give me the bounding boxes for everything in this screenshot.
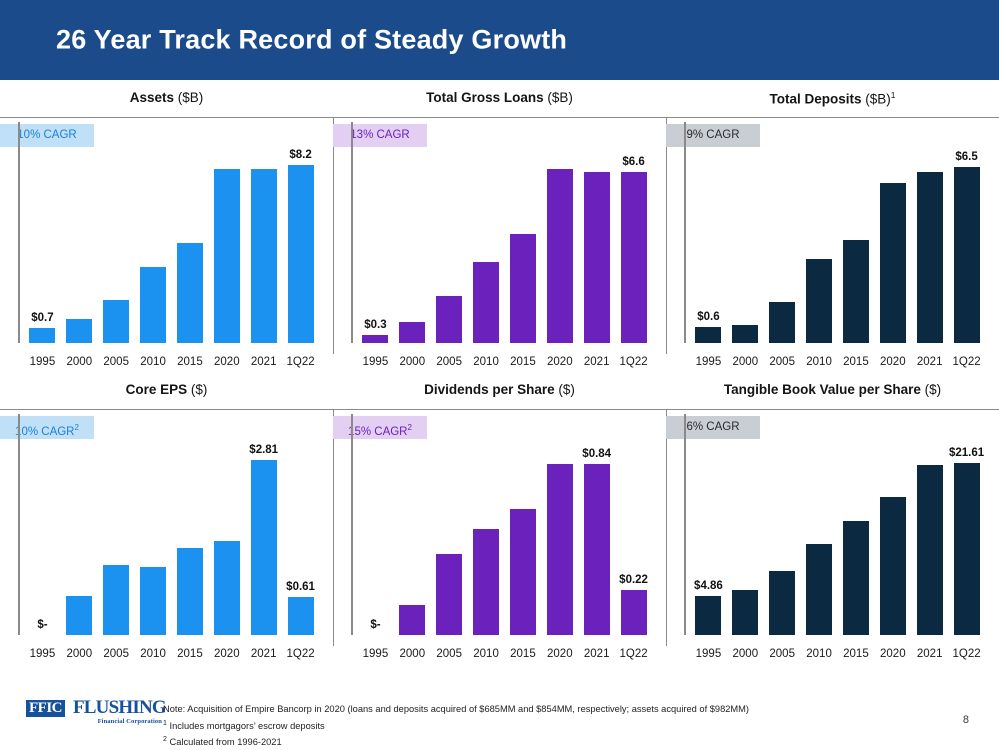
bar-2020 bbox=[214, 541, 240, 635]
x-axis-tick: 1Q22 bbox=[948, 356, 985, 368]
bar-value-label: $21.61 bbox=[948, 447, 985, 459]
x-axis-tick: 1Q22 bbox=[282, 648, 319, 660]
cagr-badge-label: 13% CAGR bbox=[350, 129, 409, 141]
bar-value-label: $8.2 bbox=[282, 149, 319, 161]
x-axis-tick: 2010 bbox=[801, 356, 838, 368]
charts-grid: Assets ($B)10% CAGR$0.719952000200520102… bbox=[0, 86, 999, 670]
x-axis-tick: 2020 bbox=[541, 648, 578, 660]
cagr-badge-dividends-per-share: 15% CAGR2 bbox=[333, 416, 427, 439]
bar-2021 bbox=[251, 169, 277, 343]
bar-slot: 2015 bbox=[505, 152, 542, 374]
bar-2010 bbox=[140, 267, 166, 343]
bar-2015 bbox=[177, 548, 203, 635]
x-axis-tick: 2005 bbox=[764, 648, 801, 660]
chart-title-unit: ($) bbox=[925, 382, 942, 397]
page-title: 26 Year Track Record of Steady Growth bbox=[56, 25, 567, 56]
x-axis-tick: 2010 bbox=[468, 648, 505, 660]
bar-slot: 2021 bbox=[578, 152, 615, 374]
bar-slot: 2005 bbox=[764, 444, 801, 666]
footnote-2: 2 Calculated from 1996-2021 bbox=[163, 733, 749, 750]
bars-row: $0.31995200020052010201520202021$6.61Q22 bbox=[357, 152, 652, 374]
bar-1Q22 bbox=[621, 590, 647, 635]
x-axis-tick: 2005 bbox=[431, 648, 468, 660]
bar-2000 bbox=[66, 596, 92, 635]
bar-slot: 2000 bbox=[394, 152, 431, 374]
cagr-badge-superscript: 2 bbox=[74, 423, 78, 432]
y-axis-line bbox=[18, 122, 20, 343]
bar-slot: 2010 bbox=[468, 444, 505, 666]
bar-1Q22 bbox=[288, 165, 314, 343]
x-axis-tick: 1Q22 bbox=[615, 648, 652, 660]
chart-title-unit: ($B) bbox=[865, 92, 891, 107]
chart-title-text: Core EPS bbox=[126, 382, 188, 397]
x-axis-tick: 2021 bbox=[578, 356, 615, 368]
x-axis-tick: 1995 bbox=[24, 356, 61, 368]
bar-slot: 2000 bbox=[61, 152, 98, 374]
bar-2010 bbox=[473, 262, 499, 343]
bar-2021 bbox=[251, 460, 277, 635]
x-axis-tick: 2005 bbox=[98, 356, 135, 368]
bar-2000 bbox=[732, 325, 758, 343]
chart-title-superscript: 1 bbox=[891, 90, 896, 100]
bar-value-label: $0.84 bbox=[578, 448, 615, 460]
x-axis-tick: 2020 bbox=[208, 356, 245, 368]
bar-value-label: $- bbox=[24, 619, 61, 631]
bar-2010 bbox=[806, 259, 832, 343]
bar-slot: 2021 bbox=[245, 152, 282, 374]
bar-slot: 2005 bbox=[764, 152, 801, 374]
bar-1Q22 bbox=[954, 463, 980, 635]
bar-2020 bbox=[880, 497, 906, 635]
x-axis-tick: 2015 bbox=[505, 648, 542, 660]
bar-slot: 2015 bbox=[505, 444, 542, 666]
bar-slot: 2020 bbox=[874, 444, 911, 666]
bar-value-label: $6.5 bbox=[948, 151, 985, 163]
cagr-badge-tangible-book-value-per-share: 6% CAGR bbox=[666, 416, 760, 439]
cagr-badge-label: 15% CAGR bbox=[348, 426, 407, 438]
bar-2010 bbox=[140, 567, 166, 635]
bar-2010 bbox=[473, 529, 499, 635]
chart-title-text: Dividends per Share bbox=[424, 382, 555, 397]
chart-title-assets: Assets ($B) bbox=[0, 90, 333, 105]
footnotes: Note: Acquisition of Empire Bancorp in 2… bbox=[163, 703, 749, 750]
bar-value-label: $2.81 bbox=[245, 444, 282, 456]
x-axis-tick: 2000 bbox=[61, 648, 98, 660]
bar-value-label: $0.61 bbox=[282, 581, 319, 593]
cagr-badge-superscript: 2 bbox=[407, 423, 411, 432]
bar-2015 bbox=[843, 240, 869, 343]
cagr-badge-assets: 10% CAGR bbox=[0, 124, 94, 147]
bar-slot: $0.71995 bbox=[24, 152, 61, 374]
plot-inner-tangible-book-value-per-share: $4.861995200020052010201520202021$21.611… bbox=[684, 444, 985, 666]
chart-panel-tangible-book-value-per-share: Tangible Book Value per Share ($)6% CAGR… bbox=[666, 378, 999, 670]
bar-slot: $0.31995 bbox=[357, 152, 394, 374]
bar-2021 bbox=[917, 465, 943, 635]
chart-title-dividends-per-share: Dividends per Share ($) bbox=[333, 382, 666, 397]
bar-slot: 2021 bbox=[911, 444, 948, 666]
bar-slot: 2021 bbox=[911, 152, 948, 374]
x-axis-tick: 2000 bbox=[61, 356, 98, 368]
bar-slot: 2000 bbox=[61, 444, 98, 666]
chart-title-tangible-book-value-per-share: Tangible Book Value per Share ($) bbox=[666, 382, 999, 397]
y-axis-line bbox=[351, 122, 353, 343]
bar-slot: 2005 bbox=[98, 152, 135, 374]
x-axis-tick: 2015 bbox=[172, 356, 209, 368]
bar-2020 bbox=[880, 183, 906, 343]
bar-slot: 2005 bbox=[431, 152, 468, 374]
bar-2000 bbox=[399, 322, 425, 343]
bar-slot: $8.21Q22 bbox=[282, 152, 319, 374]
chart-panel-assets: Assets ($B)10% CAGR$0.719952000200520102… bbox=[0, 86, 333, 378]
bars-row: $-199520002005201020152020$0.842021$0.22… bbox=[357, 444, 652, 666]
footnote-1: 1 Includes mortgagors’ escrow deposits bbox=[163, 717, 749, 734]
plot-inner-dividends-per-share: $-199520002005201020152020$0.842021$0.22… bbox=[351, 444, 652, 666]
x-axis-tick: 2005 bbox=[98, 648, 135, 660]
bar-2005 bbox=[769, 571, 795, 635]
bar-slot: 2015 bbox=[838, 152, 875, 374]
bar-1995 bbox=[29, 328, 55, 343]
bar-slot: $0.221Q22 bbox=[615, 444, 652, 666]
cagr-badge-label: 10% CAGR bbox=[17, 129, 76, 141]
x-axis-tick: 2000 bbox=[394, 648, 431, 660]
bar-slot: 2020 bbox=[208, 152, 245, 374]
footnote-2-marker: 2 bbox=[163, 736, 167, 743]
bar-2005 bbox=[103, 300, 129, 343]
bars-row: $0.61995200020052010201520202021$6.51Q22 bbox=[690, 152, 985, 374]
x-axis-tick: 2015 bbox=[172, 648, 209, 660]
bar-slot: $2.812021 bbox=[245, 444, 282, 666]
bar-1Q22 bbox=[621, 172, 647, 343]
logo-ticker-mark: FFIC bbox=[26, 700, 65, 717]
cagr-badge-total-deposits: 9% CAGR bbox=[666, 124, 760, 147]
bar-slot: 2010 bbox=[468, 152, 505, 374]
x-axis-tick: 1995 bbox=[690, 648, 727, 660]
bar-2015 bbox=[177, 243, 203, 343]
bar-2021 bbox=[584, 172, 610, 343]
bar-slot: 2000 bbox=[727, 444, 764, 666]
chart-panel-dividends-per-share: Dividends per Share ($)15% CAGR2$-199520… bbox=[333, 378, 666, 670]
cagr-badge-total-gross-loans: 13% CAGR bbox=[333, 124, 427, 147]
bar-slot: $-1995 bbox=[357, 444, 394, 666]
chart-title-unit: ($B) bbox=[178, 90, 204, 105]
logo-tagline: Financial Corporation bbox=[90, 718, 162, 725]
chart-panel-total-deposits: Total Deposits ($B)19% CAGR$0.6199520002… bbox=[666, 86, 999, 378]
bar-slot: 2020 bbox=[874, 152, 911, 374]
x-axis-tick: 2021 bbox=[911, 356, 948, 368]
chart-title-text: Tangible Book Value per Share bbox=[724, 382, 921, 397]
bar-2021 bbox=[584, 464, 610, 635]
bar-slot: 2020 bbox=[541, 444, 578, 666]
x-axis-tick: 2021 bbox=[578, 648, 615, 660]
bars-row: $0.71995200020052010201520202021$8.21Q22 bbox=[24, 152, 319, 374]
bar-slot: 2000 bbox=[727, 152, 764, 374]
bar-value-label: $- bbox=[357, 619, 394, 631]
chart-title-total-gross-loans: Total Gross Loans ($B) bbox=[333, 90, 666, 105]
x-axis-tick: 2010 bbox=[468, 356, 505, 368]
x-axis-tick: 2021 bbox=[911, 648, 948, 660]
bar-slot: 2015 bbox=[172, 444, 209, 666]
bar-value-label: $6.6 bbox=[615, 156, 652, 168]
chart-title-unit: ($) bbox=[191, 382, 208, 397]
bar-slot: 2005 bbox=[98, 444, 135, 666]
cagr-badge-core-eps: 10% CAGR2 bbox=[0, 416, 94, 439]
x-axis-tick: 2021 bbox=[245, 648, 282, 660]
x-axis-tick: 2015 bbox=[838, 356, 875, 368]
x-axis-tick: 2000 bbox=[394, 356, 431, 368]
bar-slot: 2020 bbox=[208, 444, 245, 666]
bar-2021 bbox=[917, 172, 943, 343]
bar-slot: $6.51Q22 bbox=[948, 152, 985, 374]
y-axis-line bbox=[684, 122, 686, 343]
plot-area-dividends-per-share: 15% CAGR2$-199520002005201020152020$0.84… bbox=[333, 409, 666, 670]
bar-2010 bbox=[806, 544, 832, 635]
chart-title-core-eps: Core EPS ($) bbox=[0, 382, 333, 397]
bar-slot: 2020 bbox=[541, 152, 578, 374]
bar-2000 bbox=[732, 590, 758, 635]
plot-area-assets: 10% CAGR$0.71995200020052010201520202021… bbox=[0, 117, 333, 378]
plot-area-total-deposits: 9% CAGR$0.61995200020052010201520202021$… bbox=[666, 117, 999, 378]
plot-inner-total-gross-loans: $0.31995200020052010201520202021$6.61Q22 bbox=[351, 152, 652, 374]
company-logo: FFIC FLUSHING Financial Corporation bbox=[26, 698, 161, 730]
bar-slot: $6.61Q22 bbox=[615, 152, 652, 374]
bar-slot: 2015 bbox=[838, 444, 875, 666]
bar-slot: $0.842021 bbox=[578, 444, 615, 666]
bar-2020 bbox=[214, 169, 240, 343]
bar-slot: 2010 bbox=[801, 152, 838, 374]
bar-2020 bbox=[547, 169, 573, 343]
y-axis-line bbox=[18, 414, 20, 635]
bar-value-label: $4.86 bbox=[690, 580, 727, 592]
bar-2005 bbox=[103, 565, 129, 635]
plot-area-core-eps: 10% CAGR2$-199520002005201020152020$2.81… bbox=[0, 409, 333, 670]
slide-header: 26 Year Track Record of Steady Growth bbox=[0, 0, 999, 80]
bar-2015 bbox=[510, 509, 536, 635]
x-axis-tick: 2000 bbox=[727, 356, 764, 368]
bar-slot: 2015 bbox=[172, 152, 209, 374]
x-axis-tick: 2005 bbox=[431, 356, 468, 368]
x-axis-tick: 2020 bbox=[541, 356, 578, 368]
x-axis-tick: 2010 bbox=[801, 648, 838, 660]
bar-slot: $0.611Q22 bbox=[282, 444, 319, 666]
bar-slot: 2010 bbox=[135, 152, 172, 374]
bar-value-label: $0.3 bbox=[357, 319, 394, 331]
footnote-main: Note: Acquisition of Empire Bancorp in 2… bbox=[163, 703, 749, 717]
bar-value-label: $0.6 bbox=[690, 311, 727, 323]
slide-footer: FFIC FLUSHING Financial Corporation Note… bbox=[0, 676, 999, 750]
bar-2020 bbox=[547, 464, 573, 635]
x-axis-tick: 2010 bbox=[135, 648, 172, 660]
y-axis-line bbox=[351, 414, 353, 635]
footnote-1-text: Includes mortgagors’ escrow deposits bbox=[170, 721, 325, 731]
x-axis-tick: 1995 bbox=[690, 356, 727, 368]
bar-slot: 2010 bbox=[135, 444, 172, 666]
plot-inner-core-eps: $-199520002005201020152020$2.812021$0.61… bbox=[18, 444, 319, 666]
bar-slot: 2010 bbox=[801, 444, 838, 666]
chart-title-text: Total Gross Loans bbox=[426, 90, 544, 105]
chart-title-unit: ($) bbox=[558, 382, 575, 397]
bar-2005 bbox=[769, 302, 795, 343]
x-axis-tick: 2000 bbox=[727, 648, 764, 660]
logo-wordmark: FLUSHING bbox=[73, 698, 166, 717]
y-axis-line bbox=[684, 414, 686, 635]
chart-title-text: Total Deposits bbox=[769, 92, 861, 107]
bar-slot: $0.61995 bbox=[690, 152, 727, 374]
plot-area-tangible-book-value-per-share: 6% CAGR$4.861995200020052010201520202021… bbox=[666, 409, 999, 670]
chart-panel-total-gross-loans: Total Gross Loans ($B)13% CAGR$0.3199520… bbox=[333, 86, 666, 378]
bar-value-label: $0.7 bbox=[24, 312, 61, 324]
x-axis-tick: 2020 bbox=[208, 648, 245, 660]
chart-title-total-deposits: Total Deposits ($B)1 bbox=[666, 90, 999, 107]
chart-panel-core-eps: Core EPS ($)10% CAGR2$-19952000200520102… bbox=[0, 378, 333, 670]
x-axis-tick: 2020 bbox=[874, 356, 911, 368]
x-axis-tick: 1Q22 bbox=[615, 356, 652, 368]
x-axis-tick: 2005 bbox=[764, 356, 801, 368]
bar-slot: 2005 bbox=[431, 444, 468, 666]
bar-2000 bbox=[399, 605, 425, 635]
bar-value-label: $0.22 bbox=[615, 574, 652, 586]
bar-2015 bbox=[843, 521, 869, 635]
cagr-badge-label: 10% CAGR bbox=[15, 426, 74, 438]
x-axis-tick: 2015 bbox=[838, 648, 875, 660]
x-axis-tick: 1Q22 bbox=[282, 356, 319, 368]
x-axis-tick: 2015 bbox=[505, 356, 542, 368]
bar-1Q22 bbox=[288, 597, 314, 635]
bar-1995 bbox=[695, 327, 721, 343]
x-axis-tick: 2010 bbox=[135, 356, 172, 368]
bars-row: $4.861995200020052010201520202021$21.611… bbox=[690, 444, 985, 666]
x-axis-tick: 2021 bbox=[245, 356, 282, 368]
bar-1Q22 bbox=[954, 167, 980, 343]
bar-slot: $21.611Q22 bbox=[948, 444, 985, 666]
x-axis-tick: 1Q22 bbox=[948, 648, 985, 660]
bar-2015 bbox=[510, 234, 536, 343]
cagr-badge-label: 9% CAGR bbox=[686, 129, 739, 141]
x-axis-tick: 1995 bbox=[357, 648, 394, 660]
chart-title-unit: ($B) bbox=[547, 90, 573, 105]
bar-slot: $4.861995 bbox=[690, 444, 727, 666]
plot-inner-assets: $0.71995200020052010201520202021$8.21Q22 bbox=[18, 152, 319, 374]
cagr-badge-label: 6% CAGR bbox=[686, 421, 739, 433]
plot-area-total-gross-loans: 13% CAGR$0.31995200020052010201520202021… bbox=[333, 117, 666, 378]
bar-2005 bbox=[436, 296, 462, 343]
bar-slot: $-1995 bbox=[24, 444, 61, 666]
bar-1995 bbox=[362, 335, 388, 343]
bar-2005 bbox=[436, 554, 462, 635]
footnote-1-marker: 1 bbox=[163, 720, 167, 727]
bar-1995 bbox=[695, 596, 721, 635]
bars-row: $-199520002005201020152020$2.812021$0.61… bbox=[24, 444, 319, 666]
x-axis-tick: 1995 bbox=[24, 648, 61, 660]
page-number: 8 bbox=[963, 714, 969, 726]
bar-2000 bbox=[66, 319, 92, 343]
x-axis-tick: 2020 bbox=[874, 648, 911, 660]
chart-title-text: Assets bbox=[130, 90, 174, 105]
plot-inner-total-deposits: $0.61995200020052010201520202021$6.51Q22 bbox=[684, 152, 985, 374]
x-axis-tick: 1995 bbox=[357, 356, 394, 368]
footnote-2-text: Calculated from 1996-2021 bbox=[170, 737, 282, 747]
bar-slot: 2000 bbox=[394, 444, 431, 666]
